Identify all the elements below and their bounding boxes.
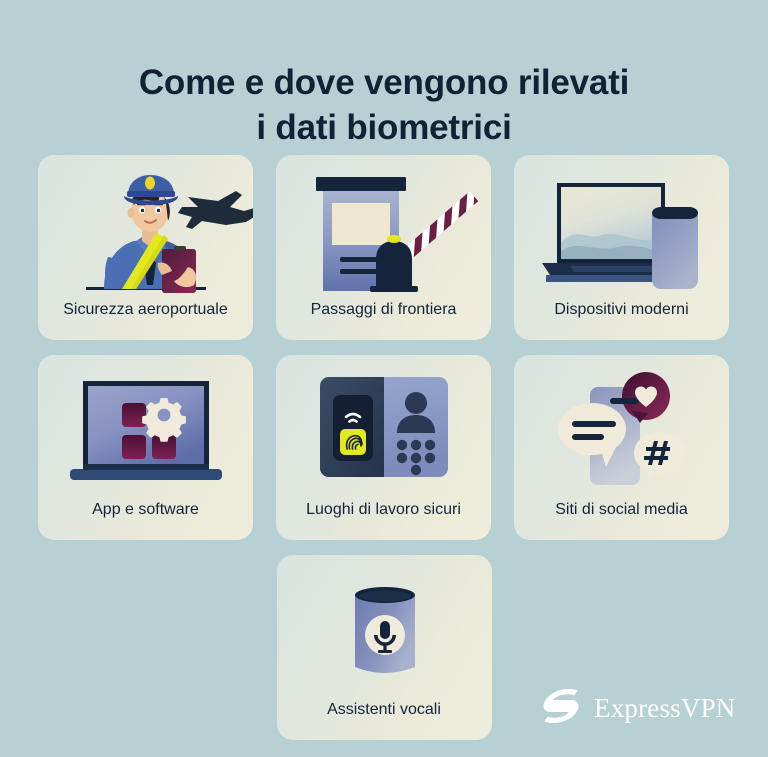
card-label: Dispositivi moderni	[520, 300, 723, 319]
card-label: Passaggi di frontiera	[282, 300, 485, 319]
page-title-line-1: Come e dove vengono rilevati	[0, 61, 768, 106]
card-airport-security[interactable]: Sicurezza aeroportuale	[38, 155, 253, 340]
page-title-line-2: i dati biometrici	[0, 106, 768, 151]
police-officer-with-airplane-icon	[38, 163, 253, 293]
card-border-crossings[interactable]: Passaggi di frontiera	[276, 155, 491, 340]
card-grid: Sicurezza aeroportuale	[38, 155, 730, 755]
expressvpn-logo-mark	[539, 686, 583, 731]
laptop-with-app-tiles-and-gear-icon	[38, 363, 253, 493]
phone-with-chat-heart-and-hashtag-bubbles-icon	[514, 363, 729, 493]
card-row-1: Sicurezza aeroportuale	[38, 155, 730, 340]
card-secure-workplaces[interactable]: Luoghi di lavoro sicuri	[276, 355, 491, 540]
card-label: Sicurezza aeroportuale	[44, 300, 247, 319]
laptop-and-smartphone-icon	[514, 163, 729, 293]
card-label: Luoghi di lavoro sicuri	[282, 500, 485, 519]
card-label: App e software	[44, 500, 247, 519]
page-title: Come e dove vengono rilevati i dati biom…	[0, 61, 768, 151]
card-label: Assistenti vocali	[283, 700, 486, 719]
card-modern-devices[interactable]: Dispositivi moderni	[514, 155, 729, 340]
card-social-media-sites[interactable]: Siti di social media	[514, 355, 729, 540]
card-label: Siti di social media	[520, 500, 723, 519]
border-checkpoint-booth-with-barrier-icon	[276, 163, 491, 293]
card-apps-software[interactable]: App e software	[38, 355, 253, 540]
access-control-panel-with-fingerprint-scanner-icon	[276, 363, 491, 493]
smart-speaker-with-microphone-icon	[277, 563, 492, 693]
card-voice-assistants[interactable]: Assistenti vocali	[277, 555, 492, 740]
expressvpn-wordmark: ExpressVPN	[594, 693, 736, 724]
infographic-canvas: Come e dove vengono rilevati i dati biom…	[0, 0, 768, 757]
expressvpn-brand-lockup: ExpressVPN	[539, 686, 736, 731]
card-row-2: App e software	[38, 355, 730, 540]
